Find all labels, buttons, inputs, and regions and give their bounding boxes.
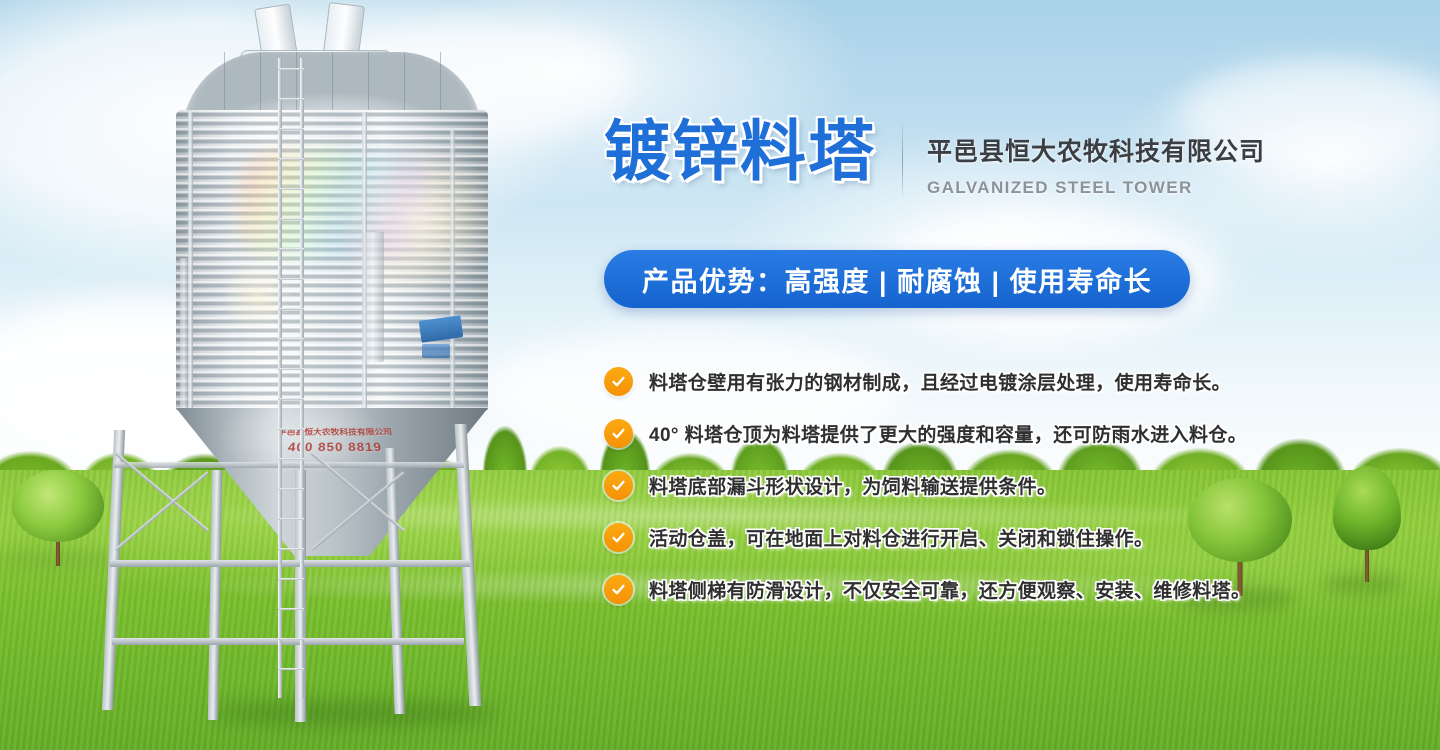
silo-brand-text: 平邑县恒大农牧科技有限公司 (241, 426, 430, 437)
list-item: 料塔底部漏斗形状设计，为饲料输送提供条件。 (604, 459, 1364, 511)
feature-text: 料塔底部漏斗形状设计，为饲料输送提供条件。 (649, 472, 1056, 499)
silo-ground-shadow (210, 700, 500, 726)
silo-body (176, 110, 488, 410)
feature-text: 活动仓盖，可在地面上对料仓进行开启、关闭和锁住操作。 (649, 524, 1153, 551)
list-item: 料塔仓壁用有张力的钢材制成，且经过电镀涂层处理，使用寿命长。 (604, 355, 1364, 407)
check-circle-icon (604, 367, 633, 396)
check-circle-icon (604, 471, 633, 500)
company-block: 平邑县恒大农牧科技有限公司 GALVANIZED STEEL TOWER (927, 118, 1265, 198)
title-divider (902, 124, 903, 196)
silo-ladder (278, 58, 304, 698)
feature-list: 料塔仓壁用有张力的钢材制成，且经过电镀涂层处理，使用寿命长。 40° 料塔仓顶为… (604, 355, 1364, 615)
silo-phone-text: 400 850 8819 (235, 440, 435, 454)
feature-text: 料塔侧梯有防滑设计，不仅安全可靠，还方便观察、安装、维修料塔。 (649, 576, 1250, 603)
company-name-en: GALVANIZED STEEL TOWER (927, 178, 1265, 198)
silo-stiffener (188, 112, 193, 412)
check-circle-icon (604, 523, 633, 552)
list-item: 40° 料塔仓顶为料塔提供了更大的强度和容量，还可防雨水进入料仓。 (604, 407, 1364, 459)
silo-access-panel (362, 232, 384, 362)
silo-blue-fitting (422, 344, 450, 358)
page-title: 镀锌料塔 (604, 118, 876, 184)
check-circle-icon (604, 575, 633, 604)
list-item: 活动仓盖，可在地面上对料仓进行开启、关闭和锁住操作。 (604, 511, 1364, 563)
feature-text: 40° 料塔仓顶为料塔提供了更大的强度和容量，还可防雨水进入料仓。 (649, 420, 1247, 447)
silo-cross-brace (115, 471, 209, 550)
feature-text: 料塔仓壁用有张力的钢材制成，且经过电镀涂层处理，使用寿命长。 (649, 368, 1231, 395)
silo-leg (208, 470, 222, 720)
company-name: 平邑县恒大农牧科技有限公司 (927, 132, 1265, 168)
advantage-banner: 产品优势：高强度 | 耐腐蚀 | 使用寿命长 (604, 250, 1190, 308)
hero-banner: 平邑县恒大农牧科技有限公司 400 850 8819 (0, 0, 1440, 750)
silo-leg (102, 430, 125, 710)
hero-text-panel: 镀锌料塔 平邑县恒大农牧科技有限公司 GALVANIZED STEEL TOWE… (604, 0, 1364, 750)
advantage-banner-text: 产品优势：高强度 | 耐腐蚀 | 使用寿命长 (642, 260, 1152, 299)
silo-stiffener (180, 258, 188, 412)
product-image-silo: 平邑县恒大农牧科技有限公司 400 850 8819 (90, 0, 510, 750)
list-item: 料塔侧梯有防滑设计，不仅安全可靠，还方便观察、安装、维修料塔。 (604, 563, 1364, 615)
silo-brand-marking: 平邑县恒大农牧科技有限公司 400 850 8819 (235, 426, 435, 454)
check-circle-icon (604, 419, 633, 448)
title-row: 镀锌料塔 平邑县恒大农牧科技有限公司 GALVANIZED STEEL TOWE… (604, 118, 1265, 198)
silo-stiffener (450, 130, 455, 412)
